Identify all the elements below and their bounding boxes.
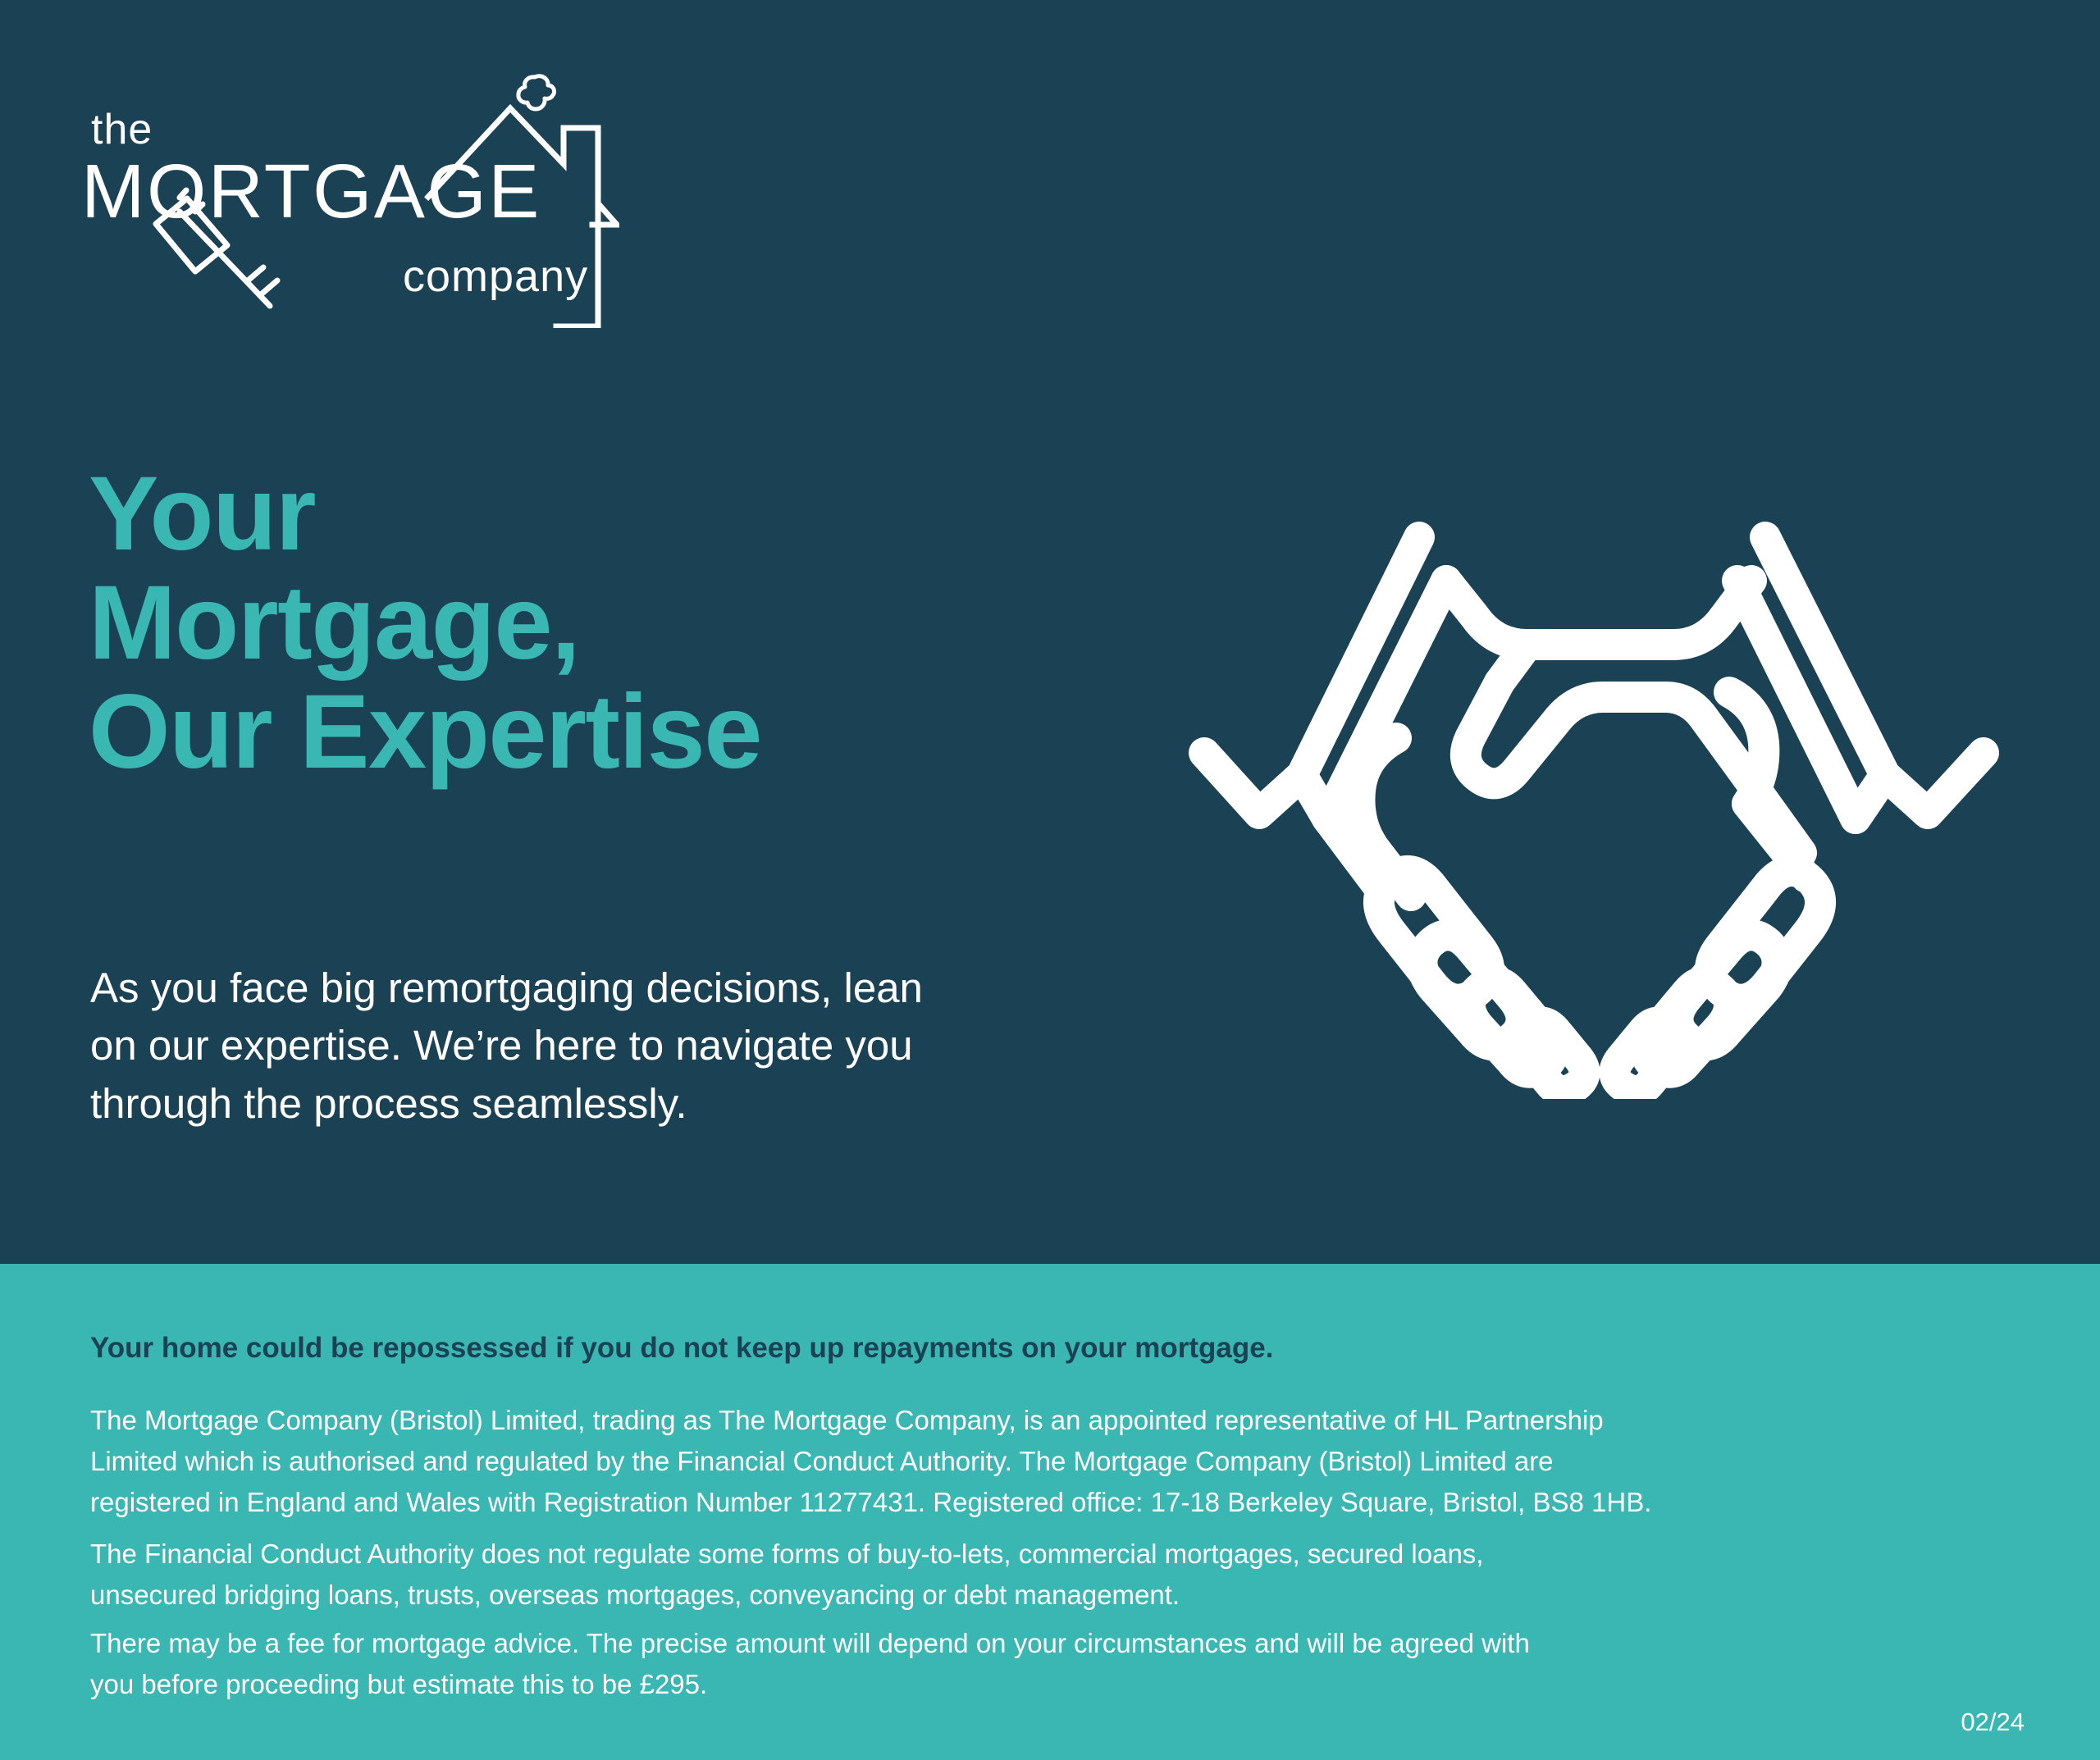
legal-2-line-1: The Financial Conduct Authority does not… [90, 1534, 2026, 1575]
logo-wordmark: MORTGAGE [81, 148, 541, 234]
legal-1-line-1: The Mortgage Company (Bristol) Limited, … [90, 1400, 2026, 1441]
repossession-warning: Your home could be repossessed if you do… [90, 1332, 1273, 1365]
legal-3-line-1: There may be a fee for mortgage advice. … [90, 1623, 2026, 1664]
legal-1-line-3: registered in England and Wales with Reg… [90, 1482, 2026, 1523]
logo-company: company [403, 252, 588, 301]
subcopy-line-2: on our expertise. We’re here to navigate… [90, 1017, 1165, 1074]
legal-1-line-2: Limited which is authorised and regulate… [90, 1441, 2026, 1482]
headline-line-1: Your [89, 459, 1188, 568]
page-title: Your Mortgage, Our Expertise [89, 459, 1188, 787]
date-code: 02/24 [1961, 1708, 2025, 1737]
logo-the: the [91, 106, 153, 153]
headline-line-2: Mortgage, [89, 568, 1188, 677]
legal-paragraph-1: The Mortgage Company (Bristol) Limited, … [90, 1400, 2026, 1523]
legal-paragraph-3: There may be a fee for mortgage advice. … [90, 1623, 2026, 1705]
footer-disclaimer-band: Your home could be repossessed if you do… [0, 1264, 2100, 1760]
subcopy-line-1: As you face big remortgaging decisions, … [90, 960, 1165, 1017]
headline-line-3: Our Expertise [89, 677, 1188, 787]
smoke-puff-icon [518, 76, 555, 109]
legal-paragraph-2: The Financial Conduct Authority does not… [90, 1534, 2026, 1616]
legal-3-line-2: you before proceeding but estimate this … [90, 1664, 2026, 1705]
legal-2-line-2: unsecured bridging loans, trusts, overse… [90, 1575, 2026, 1616]
flyer-page: the MORTGAGE company [0, 0, 2100, 1760]
subcopy-line-3: through the process seamlessly. [90, 1075, 1165, 1133]
handshake-icon [1173, 492, 2026, 1099]
hero-section: the MORTGAGE company [0, 0, 2100, 1264]
hero-subcopy: As you face big remortgaging decisions, … [90, 960, 1165, 1133]
company-logo[interactable]: the MORTGAGE company [78, 57, 619, 328]
